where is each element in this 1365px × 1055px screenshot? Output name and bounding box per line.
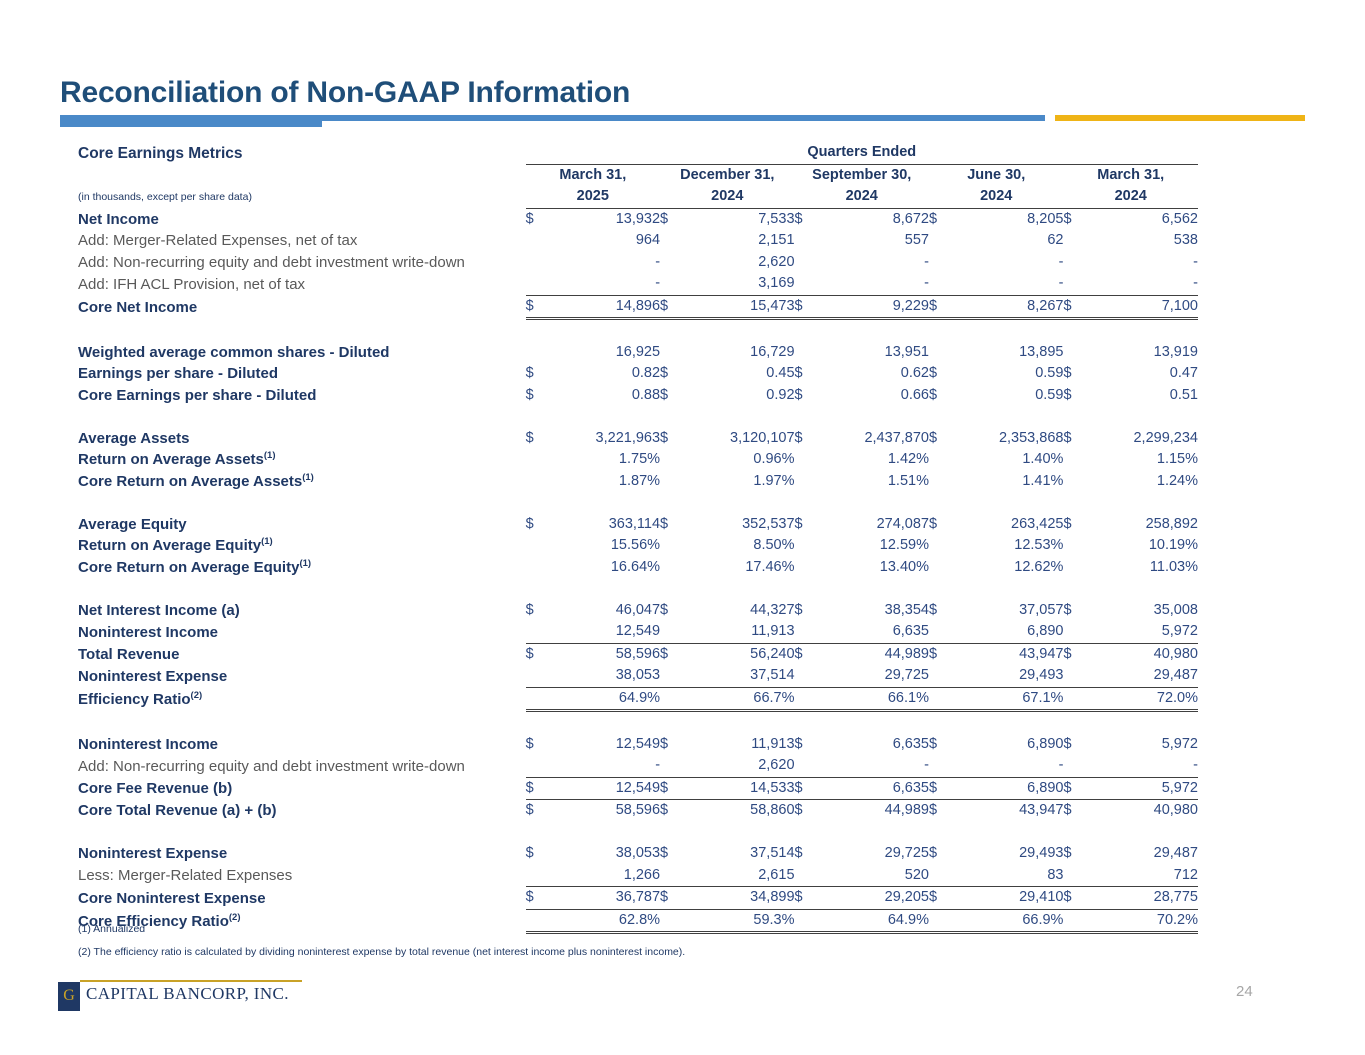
row-label-noninterest-income: Noninterest Income — [78, 621, 526, 643]
cell-core-eps-diluted-q5: 0.51 — [1086, 385, 1198, 407]
cell-core-roaa-q2: 1.97% — [682, 471, 794, 493]
table-row: Add: Non-recurring equity and debt inves… — [78, 252, 1198, 274]
currency-blank — [526, 665, 548, 687]
cell-noninterest-exp-2-q5: 29,487 — [1086, 843, 1198, 865]
group-header: Quarters Ended — [526, 142, 1198, 164]
table-row: Noninterest Income $ 12,549 $ 11,913 $ 6… — [78, 734, 1198, 756]
cell-roaa-q5: 1.15% — [1086, 449, 1198, 471]
cell-roae-q2: 8.50% — [682, 535, 794, 557]
cell-noninterest-income-2-q1: 12,549 — [548, 734, 660, 756]
currency-symbol: $ — [929, 363, 951, 385]
cell-roae-q5: 10.19% — [1086, 535, 1198, 557]
cell-core-total-revenue-q5: 40,980 — [1086, 800, 1198, 822]
row-label-efficiency-ratio: Efficiency Ratio(2) — [78, 687, 526, 711]
currency-blank — [929, 252, 951, 274]
currency-symbol: $ — [526, 843, 548, 865]
cell-noninterest-income-q2: 11,913 — [682, 621, 794, 643]
cell-eps-diluted-q3: 0.62 — [817, 363, 929, 385]
currency-blank — [929, 449, 951, 471]
currency-symbol: $ — [660, 734, 682, 756]
cell-noninterest-exp-2-q1: 38,053 — [548, 843, 660, 865]
cell-noninterest-income-2-q3: 6,635 — [817, 734, 929, 756]
col-header-month-1: March 31, — [526, 164, 660, 186]
currency-blank — [929, 909, 951, 933]
row-label-roae: Return on Average Equity(1) — [78, 535, 526, 557]
col-header-year-2: 2024 — [660, 186, 794, 208]
units-note: (in thousands, except per share data) — [78, 186, 526, 208]
currency-symbol: $ — [526, 734, 548, 756]
currency-blank — [660, 557, 682, 579]
cell-core-efficiency-q2: 59.3% — [682, 909, 794, 933]
currency-symbol: $ — [526, 887, 548, 910]
currency-blank — [660, 665, 682, 687]
currency-symbol: $ — [526, 777, 548, 800]
currency-blank — [526, 535, 548, 557]
cell-noninterest-exp-2-q2: 37,514 — [682, 843, 794, 865]
cell-roae-q3: 12.59% — [817, 535, 929, 557]
table-row: Return on Average Assets(1) 1.75% 0.96% … — [78, 449, 1198, 471]
currency-symbol: $ — [660, 643, 682, 665]
divider-blue-thick — [60, 115, 322, 127]
cell-add-writedown-2-q5: - — [1086, 755, 1198, 777]
currency-symbol: $ — [660, 514, 682, 536]
row-label-add-ifh: Add: IFH ACL Provision, net of tax — [78, 273, 526, 295]
cell-add-ifh-q4: - — [951, 273, 1063, 295]
currency-blank — [660, 230, 682, 252]
table-row: Noninterest Income 12,549 11,913 6,635 6… — [78, 621, 1198, 643]
cell-noninterest-income-2-q2: 11,913 — [682, 734, 794, 756]
row-label-efficiency-ratio-text: Efficiency Ratio — [78, 691, 191, 708]
currency-symbol: $ — [526, 385, 548, 407]
cell-avg-assets-q4: 2,353,868 — [951, 428, 1063, 450]
currency-symbol: $ — [929, 208, 951, 230]
row-label-add-writedown-2: Add: Non-recurring equity and debt inves… — [78, 755, 526, 777]
col-header-month-4: June 30, — [929, 164, 1063, 186]
title-divider — [60, 113, 1305, 129]
currency-blank — [1063, 665, 1085, 687]
cell-add-writedown-q4: - — [951, 252, 1063, 274]
cell-total-revenue-q1: 58,596 — [548, 643, 660, 665]
cell-efficiency-ratio-q4: 67.1% — [951, 687, 1063, 711]
cell-core-fee-revenue-q1: 12,549 — [548, 777, 660, 800]
cell-add-merger-q4: 62 — [951, 230, 1063, 252]
cell-nii-q4: 37,057 — [951, 600, 1063, 622]
currency-symbol: $ — [1063, 363, 1085, 385]
currency-symbol: $ — [660, 385, 682, 407]
cell-net-income-q2: 7,533 — [682, 208, 794, 230]
currency-blank — [660, 273, 682, 295]
row-spacer — [78, 711, 1198, 734]
table-row: Core Earnings per share - Diluted $ 0.88… — [78, 385, 1198, 407]
logo-spiral-icon: G — [58, 982, 80, 1009]
cell-add-writedown-2-q3: - — [817, 755, 929, 777]
cell-net-income-q4: 8,205 — [951, 208, 1063, 230]
cell-avg-equity-q4: 263,425 — [951, 514, 1063, 536]
currency-blank — [660, 342, 682, 364]
cell-add-writedown-q2: 2,620 — [682, 252, 794, 274]
cell-add-merger-q2: 2,151 — [682, 230, 794, 252]
currency-symbol: $ — [660, 363, 682, 385]
table-row: Core Noninterest Expense $ 36,787 $ 34,8… — [78, 887, 1198, 910]
cell-core-net-income-q1: 14,896 — [548, 295, 660, 319]
cell-add-merger-q3: 557 — [817, 230, 929, 252]
cell-avg-equity-q3: 274,087 — [817, 514, 929, 536]
currency-symbol: $ — [929, 777, 951, 800]
currency-blank — [526, 471, 548, 493]
cell-efficiency-ratio-q5: 72.0% — [1086, 687, 1198, 711]
cell-core-fee-revenue-q2: 14,533 — [682, 777, 794, 800]
currency-symbol: $ — [660, 800, 682, 822]
currency-blank — [526, 557, 548, 579]
cell-wavg-shares-q2: 16,729 — [682, 342, 794, 364]
currency-blank — [526, 252, 548, 274]
currency-symbol: $ — [1063, 887, 1085, 910]
row-label-noninterest-exp: Noninterest Expense — [78, 665, 526, 687]
row-label-core-net-income: Core Net Income — [78, 295, 526, 319]
currency-blank — [526, 865, 548, 887]
cell-avg-equity-q5: 258,892 — [1086, 514, 1198, 536]
financial-table-container: Core Earnings Metrics Quarters Ended Mar… — [78, 142, 1198, 934]
page-number: 24 — [1236, 983, 1253, 1000]
footnote-2: (2) The efficiency ratio is calculated b… — [78, 941, 685, 964]
currency-symbol: $ — [795, 363, 817, 385]
cell-add-ifh-q5: - — [1086, 273, 1198, 295]
row-label-core-eps-diluted: Core Earnings per share - Diluted — [78, 385, 526, 407]
cell-core-roae-q1: 16.64% — [548, 557, 660, 579]
cell-core-roaa-q3: 1.51% — [817, 471, 929, 493]
cell-add-writedown-q1: - — [548, 252, 660, 274]
currency-blank — [795, 687, 817, 711]
currency-symbol: $ — [795, 643, 817, 665]
table-row: Core Total Revenue (a) + (b) $ 58,596 $ … — [78, 800, 1198, 822]
row-spacer — [78, 406, 1198, 428]
cell-total-revenue-q5: 40,980 — [1086, 643, 1198, 665]
currency-blank — [795, 865, 817, 887]
table-row: Net Income $ 13,932 $ 7,533 $ 8,672 $ 8,… — [78, 208, 1198, 230]
currency-blank — [660, 621, 682, 643]
cell-eps-diluted-q1: 0.82 — [548, 363, 660, 385]
cell-efficiency-ratio-q1: 64.9% — [548, 687, 660, 711]
currency-symbol: $ — [795, 385, 817, 407]
col-header-month-2: December 31, — [660, 164, 794, 186]
row-spacer — [78, 319, 1198, 342]
currency-symbol: $ — [795, 600, 817, 622]
cell-eps-diluted-q2: 0.45 — [682, 363, 794, 385]
cell-add-ifh-q3: - — [817, 273, 929, 295]
currency-symbol: $ — [660, 843, 682, 865]
cell-avg-equity-q1: 363,114 — [548, 514, 660, 536]
currency-symbol: $ — [526, 800, 548, 822]
currency-blank — [526, 687, 548, 711]
currency-blank — [1063, 687, 1085, 711]
table-row: Noninterest Expense $ 38,053 $ 37,514 $ … — [78, 843, 1198, 865]
currency-blank — [929, 535, 951, 557]
column-header-year-row: (in thousands, except per share data) 20… — [78, 186, 1198, 208]
cell-core-noninterest-exp-q3: 29,205 — [817, 887, 929, 910]
currency-blank — [795, 252, 817, 274]
currency-symbol: $ — [795, 514, 817, 536]
currency-blank — [1063, 230, 1085, 252]
table-row: Core Return on Average Assets(1) 1.87% 1… — [78, 471, 1198, 493]
cell-roae-q1: 15.56% — [548, 535, 660, 557]
currency-blank — [1063, 273, 1085, 295]
currency-blank — [795, 557, 817, 579]
cell-core-efficiency-q5: 70.2% — [1086, 909, 1198, 933]
footnote-1: (1) Annualized — [78, 918, 685, 941]
currency-blank — [929, 273, 951, 295]
currency-symbol: $ — [929, 385, 951, 407]
currency-blank — [929, 755, 951, 777]
currency-blank — [795, 273, 817, 295]
col-header-month-5: March 31, — [1063, 164, 1198, 186]
cell-eps-diluted-q4: 0.59 — [951, 363, 1063, 385]
cell-roaa-q4: 1.40% — [951, 449, 1063, 471]
footnote-marker: (2) — [191, 690, 203, 701]
cell-total-revenue-q2: 56,240 — [682, 643, 794, 665]
currency-symbol: $ — [795, 887, 817, 910]
currency-blank — [929, 865, 951, 887]
cell-core-eps-diluted-q2: 0.92 — [682, 385, 794, 407]
col-header-year-3: 2024 — [795, 186, 929, 208]
cell-add-writedown-2-q1: - — [548, 755, 660, 777]
currency-symbol: $ — [660, 208, 682, 230]
currency-blank — [929, 557, 951, 579]
currency-symbol: $ — [526, 643, 548, 665]
currency-symbol: $ — [660, 777, 682, 800]
cell-add-writedown-q5: - — [1086, 252, 1198, 274]
cell-noninterest-income-q1: 12,549 — [548, 621, 660, 643]
row-label-core-total-revenue: Core Total Revenue (a) + (b) — [78, 800, 526, 822]
currency-blank — [1063, 621, 1085, 643]
table-row: Add: Non-recurring equity and debt inves… — [78, 755, 1198, 777]
cell-noninterest-income-q4: 6,890 — [951, 621, 1063, 643]
cell-noninterest-exp-q2: 37,514 — [682, 665, 794, 687]
row-label-add-writedown: Add: Non-recurring equity and debt inves… — [78, 252, 526, 274]
currency-symbol: $ — [929, 887, 951, 910]
currency-blank — [1063, 865, 1085, 887]
cell-nii-q1: 46,047 — [548, 600, 660, 622]
currency-blank — [1063, 557, 1085, 579]
cell-core-fee-revenue-q3: 6,635 — [817, 777, 929, 800]
row-label-core-fee-revenue: Core Fee Revenue (b) — [78, 777, 526, 800]
currency-symbol: $ — [929, 843, 951, 865]
cell-efficiency-ratio-q2: 66.7% — [682, 687, 794, 711]
cell-core-roae-q4: 12.62% — [951, 557, 1063, 579]
cell-core-efficiency-q4: 66.9% — [951, 909, 1063, 933]
currency-symbol: $ — [660, 887, 682, 910]
cell-efficiency-ratio-q3: 66.1% — [817, 687, 929, 711]
cell-eps-diluted-q5: 0.47 — [1086, 363, 1198, 385]
currency-blank — [526, 273, 548, 295]
cell-noninterest-exp-q4: 29,493 — [951, 665, 1063, 687]
cell-roaa-q2: 0.96% — [682, 449, 794, 471]
footnote-marker: (1) — [302, 472, 314, 483]
currency-blank — [526, 621, 548, 643]
currency-blank — [795, 230, 817, 252]
cell-wavg-shares-q3: 13,951 — [817, 342, 929, 364]
cell-avg-assets-q2: 3,120,107 — [682, 428, 794, 450]
col-header-month-3: September 30, — [795, 164, 929, 186]
cell-avg-assets-q5: 2,299,234 — [1086, 428, 1198, 450]
cell-nii-q3: 38,354 — [817, 600, 929, 622]
currency-symbol: $ — [526, 514, 548, 536]
cell-net-income-q3: 8,672 — [817, 208, 929, 230]
currency-symbol: $ — [660, 428, 682, 450]
currency-symbol: $ — [1063, 385, 1085, 407]
currency-blank — [795, 535, 817, 557]
col-header-year-4: 2024 — [929, 186, 1063, 208]
cell-core-eps-diluted-q4: 0.59 — [951, 385, 1063, 407]
cell-core-noninterest-exp-q4: 29,410 — [951, 887, 1063, 910]
currency-symbol: $ — [1063, 734, 1085, 756]
cell-core-noninterest-exp-q2: 34,899 — [682, 887, 794, 910]
col-header-year-1: 2025 — [526, 186, 660, 208]
cell-avg-assets-q3: 2,437,870 — [817, 428, 929, 450]
footnote-marker: (1) — [299, 558, 311, 569]
currency-symbol: $ — [795, 843, 817, 865]
table-row: Add: IFH ACL Provision, net of tax - 3,1… — [78, 273, 1198, 295]
currency-symbol: $ — [660, 295, 682, 319]
cell-noninterest-exp-q1: 38,053 — [548, 665, 660, 687]
cell-noninterest-exp-q3: 29,725 — [817, 665, 929, 687]
currency-blank — [526, 230, 548, 252]
cell-add-ifh-q2: 3,169 — [682, 273, 794, 295]
currency-blank — [795, 665, 817, 687]
table-row: Net Interest Income (a) $ 46,047 $ 44,32… — [78, 600, 1198, 622]
cell-less-merger-q5: 712 — [1086, 865, 1198, 887]
currency-blank — [660, 687, 682, 711]
currency-blank — [660, 471, 682, 493]
cell-less-merger-q2: 2,615 — [682, 865, 794, 887]
cell-add-merger-q5: 538 — [1086, 230, 1198, 252]
cell-core-roae-q3: 13.40% — [817, 557, 929, 579]
currency-symbol: $ — [526, 363, 548, 385]
currency-symbol: $ — [526, 600, 548, 622]
cell-add-merger-q1: 964 — [548, 230, 660, 252]
table-row: Average Assets $ 3,221,963 $ 3,120,107 $… — [78, 428, 1198, 450]
cell-total-revenue-q3: 44,989 — [817, 643, 929, 665]
currency-blank — [660, 449, 682, 471]
currency-symbol: $ — [795, 208, 817, 230]
currency-symbol: $ — [795, 428, 817, 450]
currency-blank — [1063, 252, 1085, 274]
cell-noninterest-income-q3: 6,635 — [817, 621, 929, 643]
cell-total-revenue-q4: 43,947 — [951, 643, 1063, 665]
currency-blank — [1063, 755, 1085, 777]
cell-core-roae-q5: 11.03% — [1086, 557, 1198, 579]
cell-add-writedown-2-q2: 2,620 — [682, 755, 794, 777]
currency-symbol: $ — [526, 295, 548, 319]
currency-symbol: $ — [526, 428, 548, 450]
currency-blank — [795, 471, 817, 493]
divider-gold — [1055, 115, 1305, 121]
currency-symbol: $ — [526, 208, 548, 230]
cell-net-income-q5: 6,562 — [1086, 208, 1198, 230]
cell-core-net-income-q4: 8,267 — [951, 295, 1063, 319]
cell-noninterest-income-2-q5: 5,972 — [1086, 734, 1198, 756]
row-label-noninterest-exp-2: Noninterest Expense — [78, 843, 526, 865]
cell-avg-equity-q2: 352,537 — [682, 514, 794, 536]
row-label-avg-equity: Average Equity — [78, 514, 526, 536]
cell-core-eps-diluted-q3: 0.66 — [817, 385, 929, 407]
currency-symbol: $ — [795, 800, 817, 822]
cell-wavg-shares-q4: 13,895 — [951, 342, 1063, 364]
table-row: Noninterest Expense 38,053 37,514 29,725… — [78, 665, 1198, 687]
currency-blank — [1063, 909, 1085, 933]
currency-symbol: $ — [929, 643, 951, 665]
table-row: Core Fee Revenue (b) $ 12,549 $ 14,533 $… — [78, 777, 1198, 800]
table-row: Efficiency Ratio(2) 64.9% 66.7% 66.1% 67… — [78, 687, 1198, 711]
row-label-core-roae: Core Return on Average Equity(1) — [78, 557, 526, 579]
cell-net-income-q1: 13,932 — [548, 208, 660, 230]
row-label-core-roaa-text: Core Return on Average Assets — [78, 473, 302, 490]
table-row: Core Return on Average Equity(1) 16.64% … — [78, 557, 1198, 579]
currency-blank — [1063, 449, 1085, 471]
row-spacer — [78, 492, 1198, 514]
row-label-less-merger: Less: Merger-Related Expenses — [78, 865, 526, 887]
currency-symbol: $ — [929, 600, 951, 622]
currency-blank — [660, 755, 682, 777]
currency-symbol: $ — [929, 800, 951, 822]
currency-blank — [795, 755, 817, 777]
row-label-core-noninterest-exp: Core Noninterest Expense — [78, 887, 526, 910]
currency-symbol: $ — [1063, 514, 1085, 536]
cell-add-ifh-q1: - — [548, 273, 660, 295]
currency-symbol: $ — [1063, 777, 1085, 800]
table-row: Total Revenue $ 58,596 $ 56,240 $ 44,989… — [78, 643, 1198, 665]
currency-symbol: $ — [795, 295, 817, 319]
cell-noninterest-exp-2-q3: 29,725 — [817, 843, 929, 865]
cell-add-writedown-2-q4: - — [951, 755, 1063, 777]
currency-symbol: $ — [1063, 800, 1085, 822]
cell-core-total-revenue-q2: 58,860 — [682, 800, 794, 822]
column-header-month-row: March 31, December 31, September 30, Jun… — [78, 164, 1198, 186]
table-row: Earnings per share - Diluted $ 0.82 $ 0.… — [78, 363, 1198, 385]
table-row: Less: Merger-Related Expenses 1,266 2,61… — [78, 865, 1198, 887]
cell-wavg-shares-q1: 16,925 — [548, 342, 660, 364]
row-label-roaa: Return on Average Assets(1) — [78, 449, 526, 471]
table-row: Add: Merger-Related Expenses, net of tax… — [78, 230, 1198, 252]
currency-symbol: $ — [929, 295, 951, 319]
cell-noninterest-exp-2-q4: 29,493 — [951, 843, 1063, 865]
row-label-roaa-text: Return on Average Assets — [78, 451, 264, 468]
logo-gold-rule — [80, 980, 302, 982]
currency-blank — [1063, 471, 1085, 493]
table-row: Weighted average common shares - Diluted… — [78, 342, 1198, 364]
cell-core-net-income-q5: 7,100 — [1086, 295, 1198, 319]
currency-symbol: $ — [929, 734, 951, 756]
table-row: Average Equity $ 363,114 $ 352,537 $ 274… — [78, 514, 1198, 536]
table-row: Core Net Income $ 14,896 $ 15,473 $ 9,22… — [78, 295, 1198, 319]
currency-blank — [929, 621, 951, 643]
table-row: Return on Average Equity(1) 15.56% 8.50%… — [78, 535, 1198, 557]
currency-blank — [795, 342, 817, 364]
cell-core-net-income-q3: 9,229 — [817, 295, 929, 319]
row-label-core-roae-text: Core Return on Average Equity — [78, 559, 299, 576]
currency-blank — [660, 252, 682, 274]
row-label-roae-text: Return on Average Equity — [78, 537, 261, 554]
currency-blank — [929, 230, 951, 252]
cell-less-merger-q1: 1,266 — [548, 865, 660, 887]
currency-blank — [929, 471, 951, 493]
cell-core-eps-diluted-q1: 0.88 — [548, 385, 660, 407]
cell-add-writedown-q3: - — [817, 252, 929, 274]
cell-core-total-revenue-q1: 58,596 — [548, 800, 660, 822]
currency-blank — [526, 449, 548, 471]
cell-core-noninterest-exp-q1: 36,787 — [548, 887, 660, 910]
currency-symbol: $ — [1063, 843, 1085, 865]
cell-core-fee-revenue-q5: 5,972 — [1086, 777, 1198, 800]
